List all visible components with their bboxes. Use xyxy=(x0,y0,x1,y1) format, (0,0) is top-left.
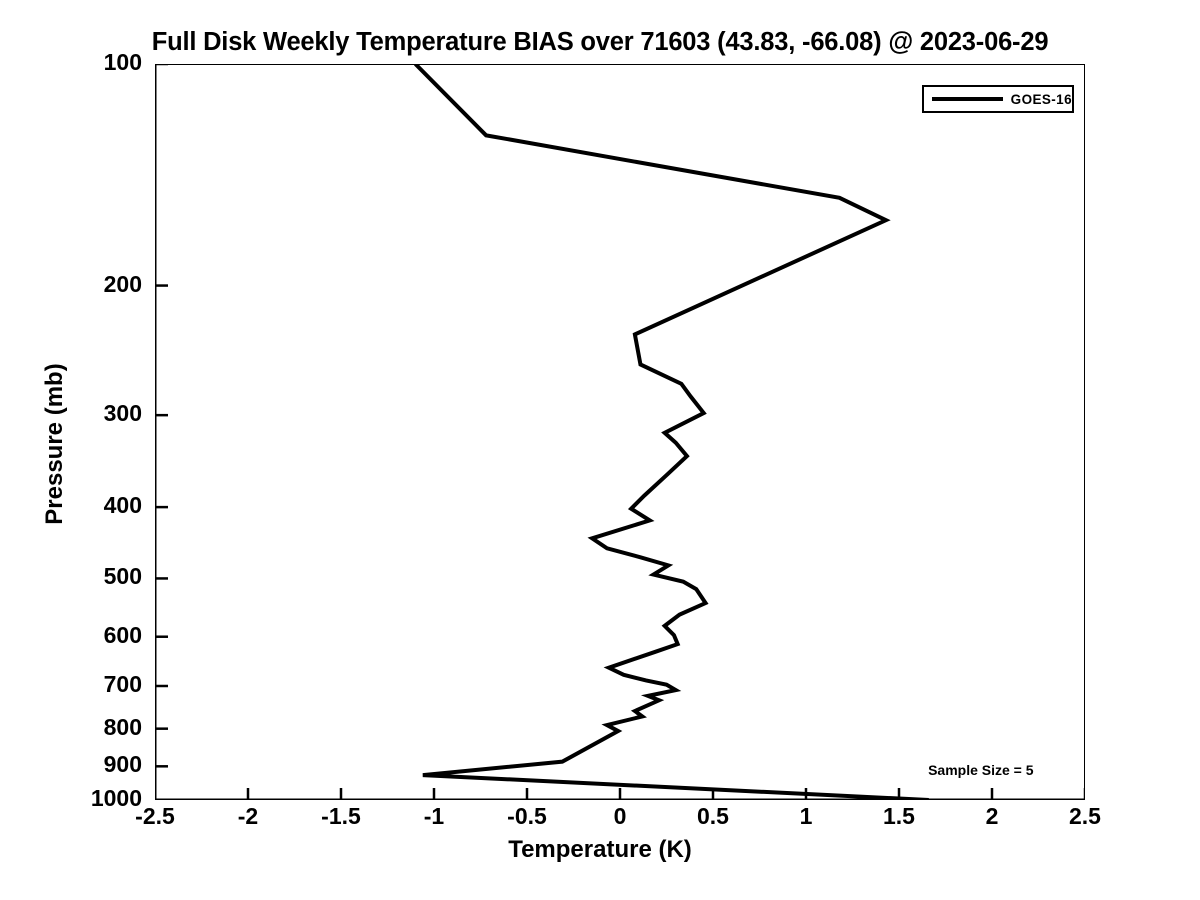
x-tick-label: 1.5 xyxy=(849,803,949,830)
legend-label-goes-16: GOES-16 xyxy=(1011,92,1072,107)
x-tick-marks xyxy=(155,788,1085,800)
x-tick-label: -0.5 xyxy=(477,803,577,830)
plot-area xyxy=(155,64,1085,800)
y-tick-label: 500 xyxy=(22,563,142,590)
chart-title: Full Disk Weekly Temperature BIAS over 7… xyxy=(0,28,1200,57)
y-tick-label: 200 xyxy=(22,271,142,298)
x-tick-label: 2 xyxy=(942,803,1042,830)
y-tick-label: 400 xyxy=(22,492,142,519)
legend: GOES-16 xyxy=(922,85,1074,113)
y-tick-label: 100 xyxy=(22,49,142,76)
chart-figure: Full Disk Weekly Temperature BIAS over 7… xyxy=(0,0,1200,900)
data-series-group xyxy=(415,64,928,800)
y-axis-title: Pressure (mb) xyxy=(41,334,69,554)
y-tick-label: 600 xyxy=(22,622,142,649)
series-line-goes-16 xyxy=(415,64,928,800)
y-tick-marks xyxy=(155,64,168,800)
x-axis-title: Temperature (K) xyxy=(0,836,1200,864)
y-tick-label: 700 xyxy=(22,671,142,698)
x-tick-label: 2.5 xyxy=(1035,803,1135,830)
axes-frame xyxy=(155,64,1085,800)
x-tick-label: -1 xyxy=(384,803,484,830)
x-tick-label: -1.5 xyxy=(291,803,391,830)
sample-size-annotation: Sample Size = 5 xyxy=(928,762,1033,778)
legend-line-swatch xyxy=(932,97,1003,101)
y-tick-label: 800 xyxy=(22,714,142,741)
x-tick-label: 0.5 xyxy=(663,803,763,830)
x-tick-label: 1 xyxy=(756,803,856,830)
plot-svg xyxy=(155,64,1085,800)
y-tick-label: 1000 xyxy=(22,785,142,812)
x-tick-label: -2 xyxy=(198,803,298,830)
x-tick-label: 0 xyxy=(570,803,670,830)
y-tick-label: 300 xyxy=(22,400,142,427)
y-tick-label: 900 xyxy=(22,751,142,778)
